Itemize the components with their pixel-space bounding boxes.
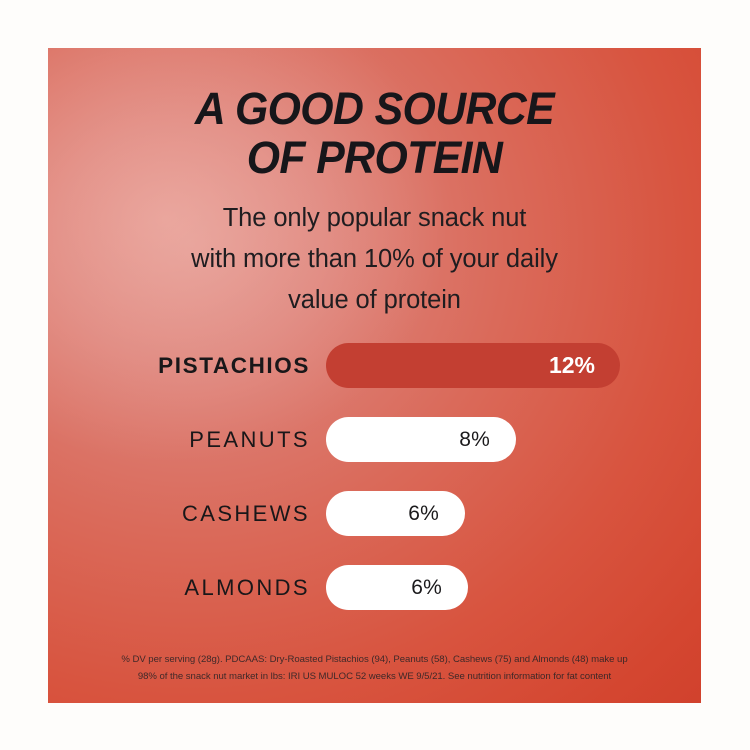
headline-line-1: A GOOD SOURCE — [195, 83, 554, 134]
bar-track-cashews: 6% — [326, 491, 465, 536]
bar-track-peanuts: 8% — [326, 417, 516, 462]
subtitle-line-3: value of protein — [48, 280, 701, 321]
panel-content: A GOOD SOURCE OF PROTEIN The only popula… — [48, 48, 701, 703]
subtitle-line-2: with more than 10% of your daily — [48, 239, 701, 280]
bar-fill-pistachios: 12% — [326, 343, 620, 388]
bar-label-peanuts: PEANUTS — [48, 417, 310, 462]
headline-line-2: OF PROTEIN — [64, 133, 684, 182]
bar-label-almonds: ALMONDS — [48, 565, 310, 610]
bar-row: PEANUTS 8% — [48, 417, 701, 462]
bar-value-peanuts: 8% — [459, 428, 516, 452]
red-gradient-panel: A GOOD SOURCE OF PROTEIN The only popula… — [48, 48, 701, 703]
bar-fill-almonds: 6% — [326, 565, 468, 610]
bar-label-cashews: CASHEWS — [48, 491, 310, 536]
bar-value-almonds: 6% — [411, 576, 468, 600]
bar-track-almonds: 6% — [326, 565, 468, 610]
subtitle: The only popular snack nut with more tha… — [48, 198, 701, 321]
bar-fill-cashews: 6% — [326, 491, 465, 536]
bar-label-pistachios: PISTACHIOS — [48, 343, 310, 388]
infographic-canvas: A GOOD SOURCE OF PROTEIN The only popula… — [0, 0, 750, 750]
bar-chart: PISTACHIOS 12% PEANUTS 8% — [48, 343, 701, 639]
bar-row: ALMONDS 6% — [48, 565, 701, 610]
bar-row: PISTACHIOS 12% — [48, 343, 701, 388]
footnote-line-1: % DV per serving (28g). PDCAAS: Dry-Roas… — [48, 651, 701, 668]
bar-track-pistachios: 12% — [326, 343, 620, 388]
page-title: A GOOD SOURCE OF PROTEIN — [64, 84, 684, 182]
footnote: % DV per serving (28g). PDCAAS: Dry-Roas… — [48, 651, 701, 685]
subtitle-line-1: The only popular snack nut — [48, 198, 701, 239]
bar-value-pistachios: 12% — [549, 352, 620, 379]
bar-fill-peanuts: 8% — [326, 417, 516, 462]
bar-value-cashews: 6% — [408, 502, 465, 526]
footnote-line-2: 98% of the snack nut market in lbs: IRI … — [48, 668, 701, 685]
bar-row: CASHEWS 6% — [48, 491, 701, 536]
